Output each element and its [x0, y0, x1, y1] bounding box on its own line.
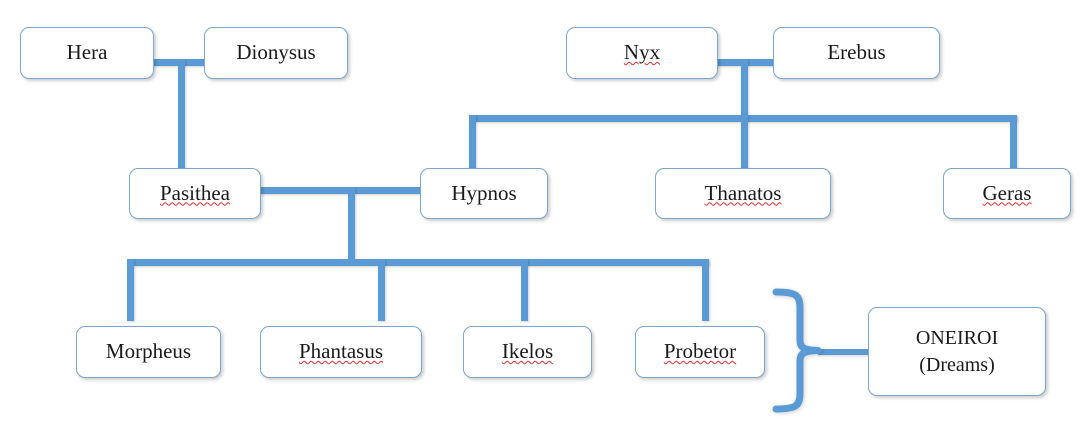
connector-drop-hypnos — [469, 115, 476, 170]
connector-drop-thanatos — [741, 115, 748, 170]
node-pasithea[interactable]: Pasithea — [129, 168, 261, 219]
node-oneiroi[interactable]: ONEIROI (Dreams) — [868, 307, 1046, 396]
node-hypnos-label: Hypnos — [449, 182, 518, 206]
connector-drop-morpheus — [127, 259, 134, 321]
node-geras-label: Geras — [981, 182, 1034, 206]
connector-drop-phantasus — [378, 259, 385, 321]
node-morpheus[interactable]: Morpheus — [76, 326, 221, 378]
connector-drop-ikelos — [521, 259, 528, 321]
oneiroi-group-brace — [770, 288, 830, 413]
connector-drop-geras — [1010, 115, 1017, 170]
node-dionysus-label: Dionysus — [234, 41, 317, 65]
node-erebus[interactable]: Erebus — [773, 27, 940, 79]
node-oneiroi-line1: ONEIROI — [914, 325, 1000, 351]
connector-pasithea-hypnos-bar — [258, 187, 423, 194]
node-pasithea-label: Pasithea — [158, 182, 232, 206]
node-ikelos[interactable]: Ikelos — [463, 326, 592, 378]
node-oneiroi-line2: (Dreams) — [917, 352, 997, 378]
family-tree-diagram: Hera Dionysus Nyx Erebus Pasithea Hypnos… — [0, 0, 1091, 439]
node-dionysus[interactable]: Dionysus — [204, 27, 348, 79]
node-phantasus-label: Phantasus — [297, 340, 385, 364]
connector-drop-probetor — [702, 259, 709, 321]
node-thanatos[interactable]: Thanatos — [655, 168, 831, 219]
node-probetor-label: Probetor — [662, 340, 738, 364]
node-geras[interactable]: Geras — [943, 168, 1071, 219]
connector-hera-dionysus-drop — [178, 59, 185, 169]
node-erebus-label: Erebus — [825, 41, 887, 65]
node-nyx-label: Nyx — [622, 41, 662, 65]
node-ikelos-label: Ikelos — [500, 340, 555, 364]
connector-pasithea-hypnos-drop — [348, 187, 355, 262]
node-phantasus[interactable]: Phantasus — [260, 326, 422, 378]
node-hypnos[interactable]: Hypnos — [420, 168, 548, 219]
node-nyx[interactable]: Nyx — [566, 27, 718, 79]
node-thanatos-label: Thanatos — [703, 182, 784, 206]
node-probetor[interactable]: Probetor — [635, 326, 765, 378]
connector-oneiroi-bus — [127, 259, 709, 266]
connector-nyx-erebus-drop — [741, 59, 748, 121]
node-morpheus-label: Morpheus — [104, 340, 193, 364]
node-hera-label: Hera — [65, 41, 110, 65]
node-hera[interactable]: Hera — [20, 27, 154, 79]
